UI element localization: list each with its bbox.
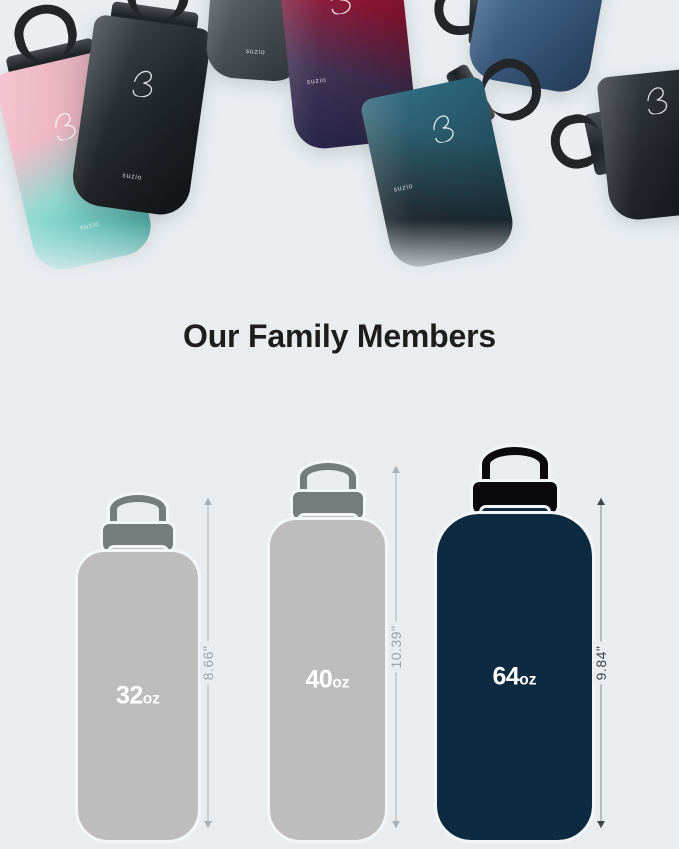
bottle-spec-64oz: 64oz 9.84" 4.92" <box>437 440 592 840</box>
height-dimension-64oz: 9.84" <box>587 498 615 828</box>
brand-wordmark: suzio <box>79 221 100 232</box>
size-comparison-row: 32oz 8.66" 3.54" <box>0 440 679 840</box>
cap-loop-handle-icon <box>300 463 356 492</box>
photo-bottle-teal-black: suzio <box>359 75 518 272</box>
bottle-body: 32oz <box>78 552 198 840</box>
bottle-spec-32oz: 32oz 8.66" 3.54" <box>78 440 198 840</box>
bottle-spec-40oz: 40oz 10.39" 3.54" <box>270 440 385 840</box>
arrow-up-icon <box>204 498 212 505</box>
brand-wordmark: suzio <box>245 48 265 56</box>
capacity-label: 40oz <box>305 666 349 695</box>
capacity-unit: oz <box>519 672 536 689</box>
capacity-value: 32 <box>116 682 143 710</box>
brand-logo-icon <box>127 65 165 99</box>
capacity-unit: oz <box>143 691 160 708</box>
capacity-label: 64oz <box>492 663 536 692</box>
capacity-label: 32oz <box>116 682 160 711</box>
hero-product-photo: suzio suzio suzio <box>0 0 679 290</box>
height-label: 10.39" <box>388 621 404 672</box>
capacity-value: 64 <box>492 663 519 691</box>
photo-bottle-black-right <box>596 66 679 223</box>
height-dimension-40oz: 10.39" <box>382 466 410 828</box>
arrow-up-icon <box>392 466 400 473</box>
height-label: 8.66" <box>200 642 216 685</box>
bottle-body: suzio <box>69 14 212 219</box>
page-title: Our Family Members <box>0 318 679 355</box>
arrow-down-icon <box>597 821 605 828</box>
arrow-down-icon <box>204 821 212 828</box>
cap-loop-handle-icon <box>482 447 548 482</box>
product-infographic: suzio suzio suzio <box>0 0 679 849</box>
height-label: 9.84" <box>593 642 609 685</box>
height-dimension-32oz: 8.66" <box>194 498 222 828</box>
arrow-up-icon <box>597 498 605 505</box>
bottle-body <box>596 66 679 223</box>
bottle-sheen <box>69 14 212 219</box>
bottle-body: 64oz <box>437 514 592 840</box>
capacity-unit: oz <box>332 675 349 692</box>
arrow-down-icon <box>392 821 400 828</box>
cap-loop-handle-icon <box>110 495 166 524</box>
photo-bottle-black-matte: suzio <box>69 14 212 219</box>
brand-logo-icon <box>640 82 677 115</box>
bottle-body: 40oz <box>270 520 385 840</box>
capacity-value: 40 <box>305 666 332 694</box>
